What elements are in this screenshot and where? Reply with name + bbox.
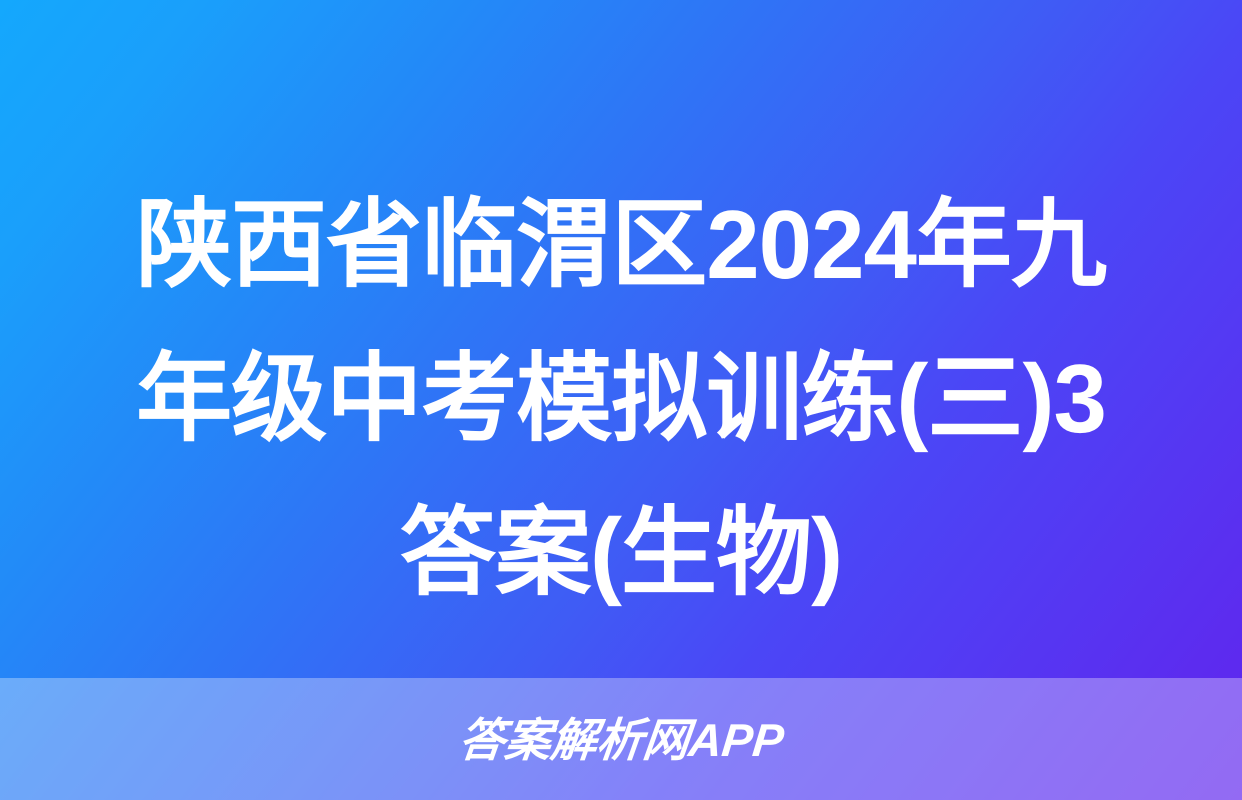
title-line-1: 陕西省临渭区2024年九 [101, 168, 1141, 322]
poster-canvas: 陕西省临渭区2024年九 年级中考模拟训练(三)3 答案(生物) 答案解析网AP… [0, 0, 1242, 800]
footer-watermark-band: 答案解析网APP [0, 678, 1242, 800]
title-block: 陕西省临渭区2024年九 年级中考模拟训练(三)3 答案(生物) [0, 168, 1242, 630]
app-watermark-label: 答案解析网APP [456, 717, 785, 763]
title-line-3: 答案(生物) [101, 476, 1141, 630]
title-line-2: 年级中考模拟训练(三)3 [101, 322, 1141, 476]
